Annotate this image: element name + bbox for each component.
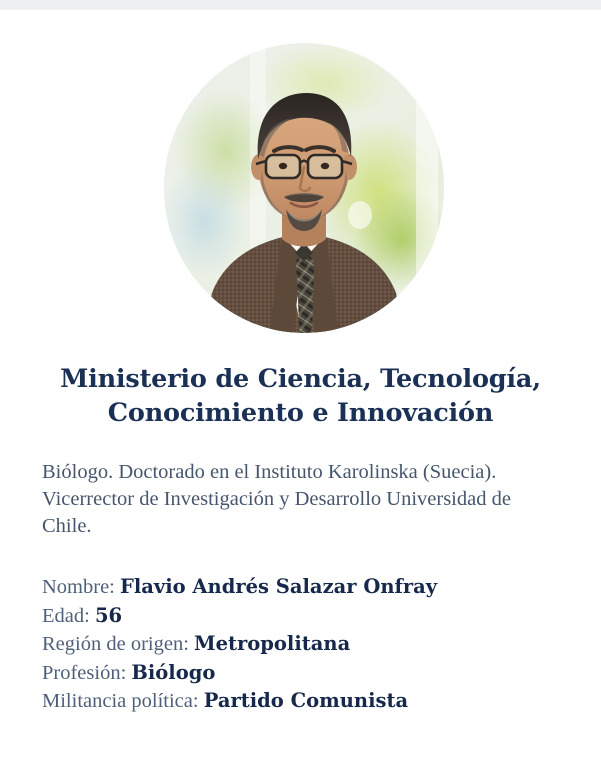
biography-paragraph: Biólogo. Doctorado en el Instituto Karol… bbox=[42, 459, 562, 540]
detail-label-profesion: Profesión: bbox=[42, 662, 126, 684]
detail-value-region: Metropolitana bbox=[194, 632, 350, 655]
portrait-container bbox=[164, 43, 444, 333]
minister-portrait-photo bbox=[164, 43, 444, 333]
page-title-line-2: Conocimiento e Innovación bbox=[34, 396, 567, 430]
top-divider-strip bbox=[0, 0, 601, 10]
detail-row-profesion: Profesión: Biólogo bbox=[42, 659, 572, 688]
page-title-line-1: Ministerio de Ciencia, Tecnología, bbox=[34, 362, 567, 396]
detail-row-militancia: Militancia política: Partido Comunista bbox=[42, 687, 572, 716]
detail-value-militancia: Partido Comunista bbox=[204, 689, 408, 712]
detail-value-profesion: Biólogo bbox=[131, 661, 215, 684]
detail-row-nombre: Nombre: Flavio Andrés Salazar Onfray bbox=[42, 573, 572, 602]
detail-label-edad: Edad: bbox=[42, 605, 90, 627]
detail-label-nombre: Nombre: bbox=[42, 576, 115, 598]
detail-row-region: Región de origen: Metropolitana bbox=[42, 630, 572, 659]
portrait-illustration bbox=[164, 43, 444, 333]
details-list: Nombre: Flavio Andrés Salazar Onfray Eda… bbox=[42, 573, 572, 716]
detail-label-region: Región de origen: bbox=[42, 633, 189, 655]
page-title: Ministerio de Ciencia, Tecnología, Conoc… bbox=[0, 362, 601, 430]
detail-label-militancia: Militancia política: bbox=[42, 690, 199, 712]
detail-row-edad: Edad: 56 bbox=[42, 602, 572, 631]
detail-value-nombre: Flavio Andrés Salazar Onfray bbox=[120, 575, 437, 598]
detail-value-edad: 56 bbox=[95, 604, 122, 627]
